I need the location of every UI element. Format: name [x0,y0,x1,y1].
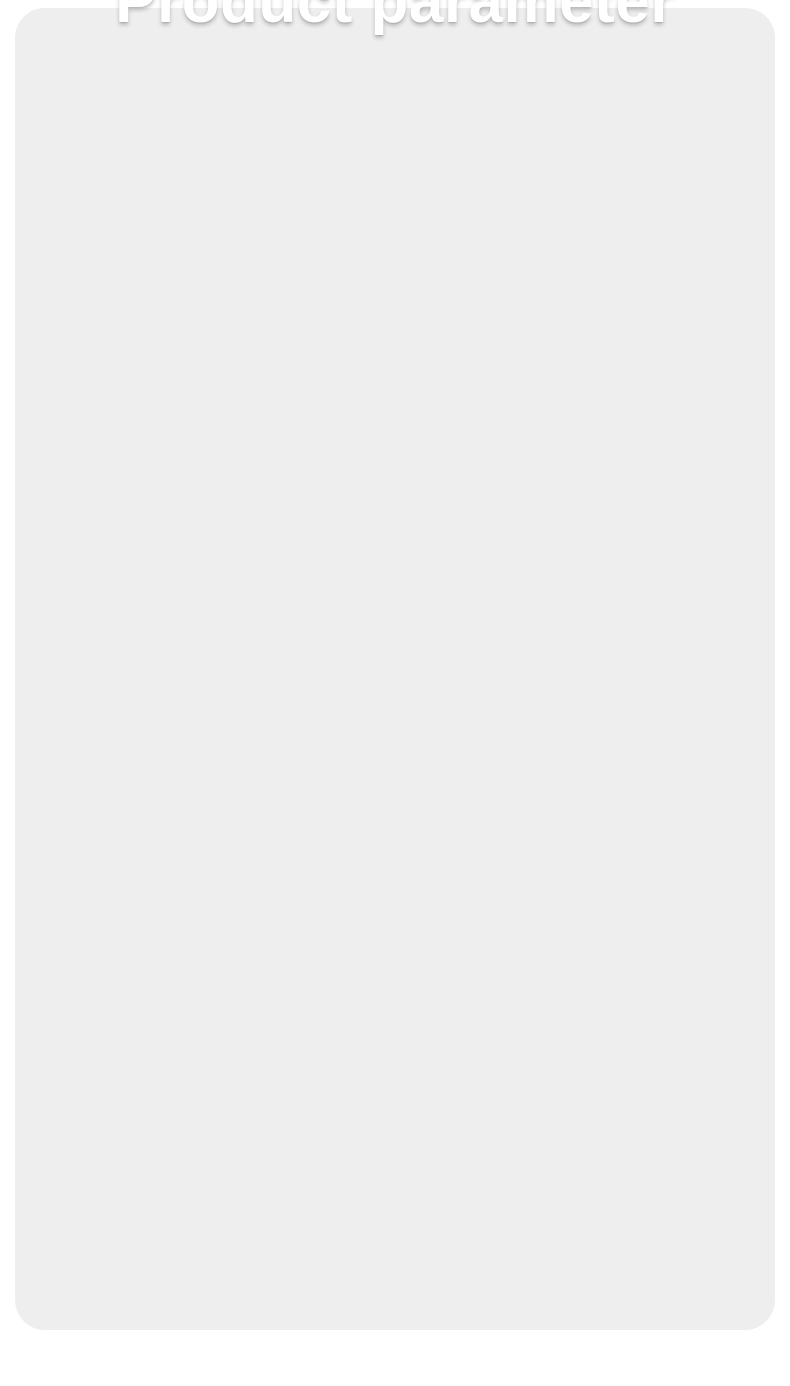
product-parameter-card [15,8,775,1330]
